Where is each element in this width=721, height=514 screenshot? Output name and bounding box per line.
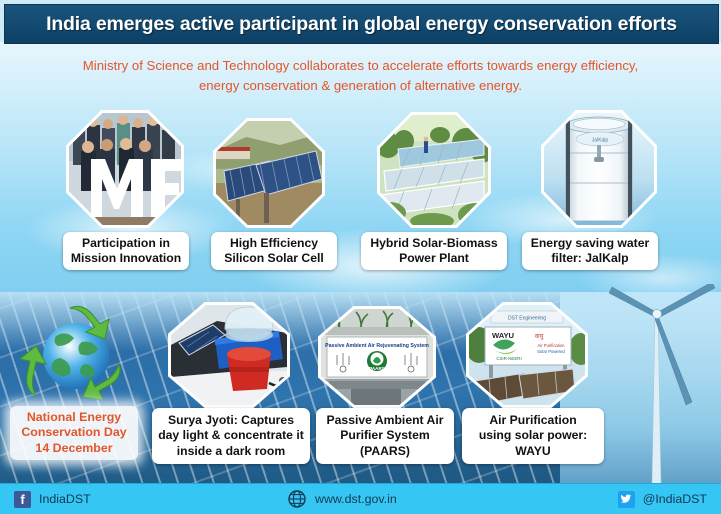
page-title: India emerges active participant in glob… xyxy=(46,13,677,36)
recycle-globe-icon xyxy=(20,302,132,410)
caption-line: Power Plant xyxy=(399,251,469,265)
necd-line-2: Conservation Day xyxy=(21,425,126,439)
caption-silicon-solar-cell: High Efficiency Silicon Solar Cell xyxy=(211,232,337,270)
caption-line: High Efficiency xyxy=(230,236,318,250)
necd-line-3: 14 December xyxy=(35,441,112,455)
caption-line: Air Purification xyxy=(489,413,576,427)
caption-line: inside a dark room xyxy=(177,444,285,458)
silicon-solar-panels-image xyxy=(216,121,322,225)
wind-turbine-image xyxy=(596,284,721,489)
caption-paars: Passive Ambient Air Purifier System (PAA… xyxy=(316,408,454,464)
subtitle-line-1: Ministry of Science and Technology colla… xyxy=(18,56,703,76)
twitter-icon[interactable] xyxy=(618,491,635,508)
subtitle: Ministry of Science and Technology colla… xyxy=(18,56,703,96)
caption-line: Hybrid Solar-Biomass xyxy=(370,236,497,250)
jalkalp-water-filter-image: JalKalp xyxy=(544,113,654,225)
caption-hybrid-solar-biomass: Hybrid Solar-Biomass Power Plant xyxy=(361,232,507,270)
facebook-icon[interactable]: f xyxy=(14,491,31,508)
svg-text:Solar Powered: Solar Powered xyxy=(537,349,565,354)
svg-text:Air Purification: Air Purification xyxy=(538,343,566,348)
svg-text:PAARS: PAARS xyxy=(369,366,385,371)
wayu-unit-image: DST Engineering WAYU वायु CSIR-NEERI Air… xyxy=(469,305,585,405)
svg-text:WAYU: WAYU xyxy=(492,331,515,340)
caption-line: Energy saving water xyxy=(531,236,650,250)
svg-text:Passive Ambient Air Rejuvenati: Passive Ambient Air Rejuvenating System xyxy=(325,343,429,349)
caption-surya-jyoti: Surya Jyoti: Captures day light & concen… xyxy=(152,408,310,464)
surya-jyoti-device-image xyxy=(171,305,287,405)
website-url[interactable]: www.dst.gov.in xyxy=(315,492,397,506)
svg-text:DST Engineering: DST Engineering xyxy=(508,316,546,322)
caption-line: Passive Ambient Air xyxy=(327,413,444,427)
caption-line: using solar power: xyxy=(479,428,587,442)
caption-line: WAYU xyxy=(515,444,550,458)
caption-line: Purifier System xyxy=(340,428,429,442)
footer-website[interactable]: www.dst.gov.in xyxy=(288,490,397,508)
twitter-handle[interactable]: @IndiaDST xyxy=(643,492,707,506)
caption-line: (PAARS) xyxy=(360,444,410,458)
globe-icon[interactable] xyxy=(288,490,306,508)
svg-text:वायु: वायु xyxy=(535,334,544,340)
necd-text-block: National Energy Conservation Day 14 Dece… xyxy=(10,406,138,461)
caption-line: Surya Jyoti: Captures xyxy=(168,413,294,427)
paars-signboard-image: Passive Ambient Air Rejuvenating System … xyxy=(321,309,433,405)
necd-line-1: National Energy xyxy=(27,410,121,424)
poster-header: India emerges active participant in glob… xyxy=(4,4,719,44)
caption-line: filter: JalKalp xyxy=(551,251,628,265)
svg-text:CSIR-NEERI: CSIR-NEERI xyxy=(496,356,521,361)
footer-twitter[interactable]: @IndiaDST xyxy=(618,491,707,508)
subtitle-line-2: energy conservation & generation of alte… xyxy=(18,76,703,96)
caption-mission-innovation: Participation in Mission Innovation xyxy=(63,232,189,270)
footer-bar: f IndiaDST www.dst.gov.in @IndiaDST xyxy=(0,483,721,514)
hybrid-solar-biomass-plant-image xyxy=(380,115,488,225)
tile-jalkalp-filter: JalKalp xyxy=(541,110,657,228)
national-energy-conservation-day-badge: National Energy Conservation Day 14 Dece… xyxy=(8,302,140,460)
caption-line: Mission Innovation xyxy=(71,251,181,265)
caption-line: Participation in xyxy=(82,236,170,250)
caption-wayu: Air Purification using solar power: WAYU xyxy=(462,408,604,464)
caption-line: Silicon Solar Cell xyxy=(224,251,324,265)
svg-text:JalKalp: JalKalp xyxy=(592,138,609,144)
footer-facebook[interactable]: f IndiaDST xyxy=(14,491,91,508)
caption-jalkalp-filter: Energy saving water filter: JalKalp xyxy=(522,232,658,270)
facebook-handle[interactable]: IndiaDST xyxy=(39,492,91,506)
caption-line: day light & concentrate it xyxy=(158,428,304,442)
mission-innovation-group-photo xyxy=(69,113,181,225)
infographic-poster: India emerges active participant in glob… xyxy=(0,0,721,514)
